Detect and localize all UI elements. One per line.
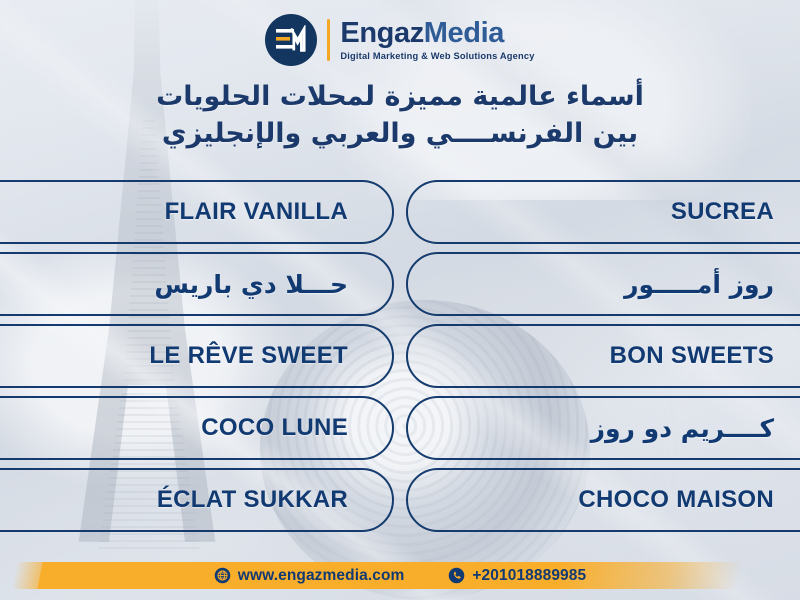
page-title-line-2: بين الفرنســــي والعربي والإنجليزي xyxy=(0,115,800,152)
name-label: SUCREA xyxy=(671,198,774,226)
name-list: FLAIR VANILLA SUCREA حـــلا دي باريس روز… xyxy=(0,176,800,536)
poster: EngazMedia Digital Marketing & Web Solut… xyxy=(0,0,800,600)
brand-name: EngazMedia xyxy=(340,19,534,49)
brand-tagline: Digital Marketing & Web Solutions Agency xyxy=(340,51,534,61)
name-pill-left[interactable]: LE RÊVE SWEET xyxy=(0,324,394,388)
phone-icon xyxy=(448,567,465,584)
website-label: www.engazmedia.com xyxy=(238,567,405,585)
phone-label: +201018889985 xyxy=(472,567,586,585)
name-label: LE RÊVE SWEET xyxy=(149,342,348,370)
brand-name-part2: Media xyxy=(424,17,504,49)
footer: www.engazmedia.com +201018889985 xyxy=(0,548,800,600)
name-row: LE RÊVE SWEET BON SWEETS xyxy=(0,320,800,392)
name-label: ÉCLAT SUKKAR xyxy=(157,486,348,514)
name-pill-right[interactable]: CHOCO MAISON xyxy=(406,468,800,532)
name-pill-left[interactable]: COCO LUNE xyxy=(0,396,394,460)
name-pill-right[interactable]: روز أمـــــور xyxy=(406,252,800,316)
globe-icon xyxy=(214,567,231,584)
em-monogram-icon xyxy=(265,14,317,66)
name-label: FLAIR VANILLA xyxy=(165,198,348,226)
name-pill-right[interactable]: BON SWEETS xyxy=(406,324,800,388)
name-label: حـــلا دي باريس xyxy=(154,270,348,299)
website-contact[interactable]: www.engazmedia.com xyxy=(214,567,405,585)
name-pill-left[interactable]: ÉCLAT SUKKAR xyxy=(0,468,394,532)
page-title-line-1: أسماء عالمية مميزة لمحلات الحلويات xyxy=(0,78,800,115)
name-label: BON SWEETS xyxy=(610,342,774,370)
name-row: COCO LUNE كــــريم دو روز xyxy=(0,392,800,464)
name-row: ÉCLAT SUKKAR CHOCO MAISON xyxy=(0,464,800,536)
name-row: حـــلا دي باريس روز أمـــــور xyxy=(0,248,800,320)
brand-name-part1: Engaz xyxy=(340,17,423,49)
name-label: COCO LUNE xyxy=(201,414,348,442)
name-label: روز أمـــــور xyxy=(624,270,774,299)
name-row: FLAIR VANILLA SUCREA xyxy=(0,176,800,248)
name-label: CHOCO MAISON xyxy=(578,486,774,514)
header: EngazMedia Digital Marketing & Web Solut… xyxy=(0,0,800,80)
name-pill-left[interactable]: حـــلا دي باريس xyxy=(0,252,394,316)
logo-divider xyxy=(327,19,330,61)
name-label: كــــريم دو روز xyxy=(591,414,774,443)
phone-contact[interactable]: +201018889985 xyxy=(448,567,586,585)
name-pill-right[interactable]: SUCREA xyxy=(406,180,800,244)
page-title: أسماء عالمية مميزة لمحلات الحلويات بين ا… xyxy=(0,78,800,153)
name-pill-left[interactable]: FLAIR VANILLA xyxy=(0,180,394,244)
name-pill-right[interactable]: كــــريم دو روز xyxy=(406,396,800,460)
contact-info: www.engazmedia.com +201018889985 xyxy=(0,562,800,589)
logo-wordmark: EngazMedia Digital Marketing & Web Solut… xyxy=(340,19,534,62)
brand-logo[interactable]: EngazMedia Digital Marketing & Web Solut… xyxy=(265,14,534,66)
